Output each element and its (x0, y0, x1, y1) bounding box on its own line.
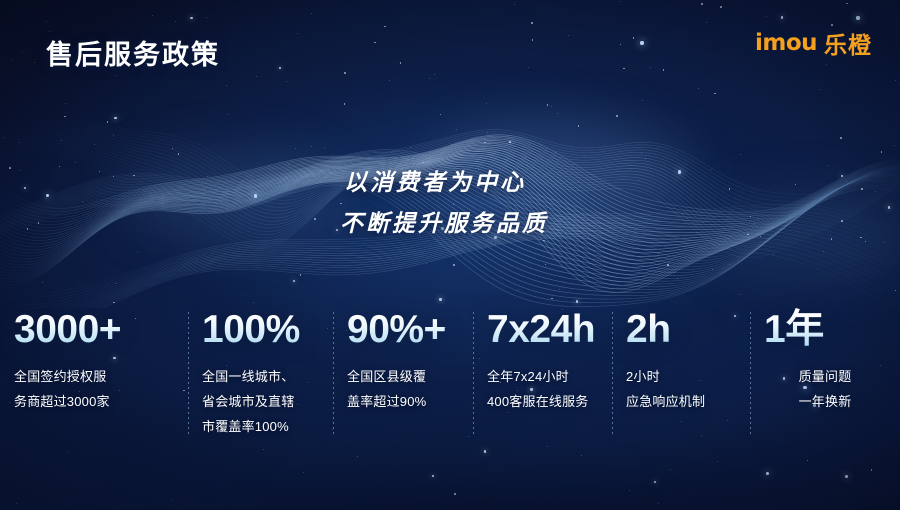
star-dot (9, 167, 11, 169)
star-dot (795, 184, 797, 186)
star-dot (514, 4, 515, 5)
stat-value-wrap: 2h (626, 306, 750, 354)
star-dot (633, 37, 635, 39)
star-dot (894, 145, 895, 146)
star-dot (113, 176, 115, 178)
star-dot (286, 81, 287, 82)
star-dot (871, 469, 873, 471)
star-dot (856, 16, 859, 19)
stat-description: 全国区县级覆盖率超过90% (347, 364, 473, 414)
star-dot (640, 41, 643, 44)
wave-glow-right (700, 190, 900, 280)
stat-description-line: 盖率超过90% (347, 389, 473, 414)
star-dot (551, 298, 553, 300)
stat-description: 2小时应急响应机制 (626, 364, 750, 414)
star-dot (178, 153, 180, 155)
star-dot (484, 450, 486, 452)
star-dot (578, 125, 580, 127)
star-dot (16, 503, 17, 504)
star-dot (288, 164, 289, 165)
logo-chinese-name: 乐橙 (824, 26, 872, 60)
star-dot (884, 242, 885, 243)
stat-description: 全年7x24小时400客服在线服务 (487, 364, 612, 414)
star-dot (429, 78, 430, 79)
star-dot (766, 16, 767, 17)
star-dot (27, 228, 29, 230)
star-dot (133, 175, 135, 177)
brand-logo: imou 乐橙 (755, 26, 872, 60)
star-dot (172, 148, 174, 150)
star-dot (440, 114, 442, 116)
star-dot (82, 201, 83, 202)
star-dot (311, 146, 312, 147)
star-dot (781, 16, 783, 18)
star-dot (620, 1, 621, 2)
star-dot (311, 13, 312, 14)
star-dot (426, 263, 427, 264)
star-dot (116, 75, 117, 76)
stat-description-line: 2小时 (626, 364, 750, 389)
star-dot (740, 154, 741, 155)
star-dot (865, 241, 867, 243)
star-dot (303, 472, 304, 473)
stat-description-line: 全国一线城市、 (202, 364, 333, 389)
star-dot (68, 451, 69, 452)
star-dot (654, 481, 656, 483)
stat-item-3: 90%+全国区县级覆盖率超过90% (333, 306, 473, 414)
star-dot (65, 103, 66, 104)
wave-line (0, 233, 900, 308)
star-dot (204, 189, 205, 190)
star-dot (297, 33, 298, 34)
star-dot (46, 21, 47, 22)
star-dot (528, 67, 529, 68)
stat-item-4: 7x24h全年7x24小时400客服在线服务 (473, 306, 612, 414)
star-dot (729, 188, 731, 190)
star-dot (895, 80, 896, 81)
star-dot (712, 269, 713, 270)
star-dot (434, 74, 435, 75)
stat-item-1: 3000+全国签约授权服务商超过3000家 (0, 306, 188, 414)
star-dot (456, 129, 457, 130)
stat-value: 1年 (764, 306, 900, 354)
star-dot (754, 223, 755, 224)
star-dot (314, 218, 316, 220)
star-dot (324, 147, 325, 148)
star-dot (663, 69, 665, 71)
star-dot (846, 181, 847, 182)
star-dot (831, 238, 833, 240)
star-dot (826, 64, 827, 65)
stat-description-line: 省会城市及直辖 (202, 389, 333, 414)
star-dot (758, 219, 759, 220)
star-dot (429, 158, 430, 159)
star-dot (740, 294, 741, 295)
star-dot (616, 115, 618, 117)
stat-divider (188, 312, 189, 436)
star-dot (227, 114, 228, 115)
star-dot (888, 206, 890, 208)
star-dot (658, 253, 659, 254)
star-dot (623, 68, 625, 70)
star-dot (94, 144, 95, 145)
star-dot (841, 175, 843, 177)
star-dot (559, 289, 560, 290)
star-dot (861, 188, 863, 190)
stat-value-wrap: 90%+ (347, 306, 473, 354)
star-dot (75, 162, 76, 163)
stat-value: 3000+ (14, 306, 188, 354)
star-dot (46, 198, 47, 199)
stat-description-line: 400客服在线服务 (487, 389, 612, 414)
tagline-line-1: 以消费者为中心 (344, 162, 548, 203)
star-dot (766, 472, 769, 475)
star-dot (300, 274, 302, 276)
star-dot (432, 475, 434, 477)
star-dot (841, 220, 843, 222)
star-dot (629, 490, 630, 491)
star-dot (190, 17, 192, 19)
star-dot (46, 194, 49, 197)
star-dot (107, 121, 109, 123)
stat-divider (750, 312, 751, 436)
star-dot (658, 503, 659, 504)
star-dot (747, 234, 749, 236)
star-dot (714, 93, 716, 95)
star-dot (581, 455, 582, 456)
star-dot (263, 449, 264, 450)
star-dot (645, 158, 646, 159)
star-dot (344, 72, 346, 74)
star-dot (881, 151, 883, 153)
star-dot (484, 142, 486, 144)
star-dot (750, 216, 752, 218)
stat-value: 90%+ (347, 306, 473, 354)
star-dot (551, 106, 552, 107)
star-dot (670, 469, 671, 470)
stat-description-line: 一年换新 (764, 389, 886, 414)
star-dot (115, 283, 116, 284)
star-dot (641, 153, 642, 154)
star-dot (650, 67, 651, 68)
stat-value: 100% (202, 306, 333, 354)
star-dot (400, 62, 402, 64)
star-dot (369, 158, 370, 159)
logo-wordmark-icon: imou (755, 30, 817, 56)
star-dot (823, 251, 824, 252)
star-dot (642, 100, 643, 101)
star-dot (453, 264, 455, 266)
stat-description-line: 质量问题 (764, 364, 886, 389)
wave-line (0, 236, 900, 308)
star-dot (172, 499, 173, 500)
star-dot (175, 21, 176, 22)
star-dot (384, 26, 386, 28)
stat-description: 全国一线城市、省会城市及直辖市覆盖率100% (202, 364, 333, 439)
stat-divider (473, 312, 474, 436)
star-dot (547, 446, 548, 447)
star-dot (113, 302, 115, 304)
star-dot (807, 460, 809, 462)
star-dot (11, 59, 12, 60)
slide-root: 售后服务政策 imou 乐橙 以消费者为中心 不断提升服务品质 3000+全国签… (0, 0, 900, 510)
star-dot (279, 67, 281, 69)
star-dot (557, 113, 558, 114)
star-dot (532, 39, 534, 41)
star-dot (772, 227, 773, 228)
star-dot (374, 42, 376, 44)
stat-divider (612, 312, 613, 436)
star-dot (113, 135, 114, 136)
star-dot (34, 62, 35, 63)
stat-item-5: 2h2小时应急响应机制 (612, 306, 750, 414)
star-dot (454, 493, 456, 495)
wave-line (0, 238, 900, 308)
star-dot (59, 166, 61, 168)
stat-description-line: 全国签约授权服 (14, 364, 188, 389)
star-dot (24, 187, 26, 189)
star-dot (840, 137, 842, 139)
stat-description-line: 全国区县级覆 (347, 364, 473, 389)
stats-row: 3000+全国签约授权服务商超过3000家100%全国一线城市、省会城市及直辖市… (0, 306, 900, 441)
star-dot (547, 104, 549, 106)
stat-description-line: 全年7x24小时 (487, 364, 612, 389)
star-dot (667, 264, 669, 266)
stat-description-line: 务商超过3000家 (14, 389, 188, 414)
star-dot (293, 280, 295, 282)
star-dot (550, 203, 551, 204)
star-dot (254, 194, 257, 197)
star-dot (61, 140, 62, 141)
star-dot (518, 289, 519, 290)
star-dot (531, 22, 533, 24)
star-dot (860, 237, 862, 239)
star-dot (99, 171, 101, 173)
stat-value-wrap: 3000+ (14, 306, 188, 354)
star-dot (389, 80, 390, 81)
stat-divider (333, 312, 334, 436)
star-dot (678, 170, 681, 173)
star-dot (555, 152, 556, 153)
star-dot (525, 157, 526, 158)
star-dot (509, 141, 511, 143)
stat-value-wrap: 100% (202, 306, 333, 354)
star-dot (701, 3, 703, 5)
star-dot (729, 264, 730, 265)
star-dot (42, 282, 43, 283)
star-dot (410, 147, 411, 148)
star-dot (720, 6, 722, 8)
star-dot (344, 103, 346, 105)
star-dot (451, 144, 452, 145)
star-dot (697, 232, 698, 233)
wave-glow-left (120, 150, 340, 240)
star-dot (875, 191, 876, 192)
stat-item-2: 100%全国一线城市、省会城市及直辖市覆盖率100% (188, 306, 333, 439)
wave-line (0, 235, 900, 308)
star-dot (845, 475, 848, 478)
star-dot (827, 165, 828, 166)
star-dot (820, 89, 821, 90)
star-dot (295, 148, 296, 149)
stat-description-line: 市覆盖率100% (202, 414, 333, 439)
star-dot (137, 252, 138, 253)
star-dot (568, 35, 569, 36)
stat-description: 质量问题一年换新 (764, 364, 900, 414)
star-dot (19, 142, 20, 143)
star-dot (20, 170, 21, 171)
star-dot (162, 203, 163, 204)
star-dot (710, 169, 711, 170)
star-dot (760, 236, 762, 238)
stat-value: 7x24h (487, 306, 612, 354)
star-dot (706, 22, 707, 23)
stat-description: 全国签约授权服务商超过3000家 (14, 364, 188, 414)
star-dot (487, 132, 488, 133)
star-dot (38, 222, 40, 224)
star-dot (256, 76, 257, 77)
star-dot (682, 213, 683, 214)
star-dot (895, 290, 897, 292)
stat-value-wrap: 7x24h (487, 306, 612, 354)
page-title: 售后服务政策 (46, 33, 220, 72)
star-dot (620, 44, 622, 46)
star-dot (22, 51, 23, 52)
stat-value: 2h (626, 306, 750, 354)
star-dot (3, 137, 4, 138)
star-dot (152, 15, 153, 16)
star-dot (846, 3, 848, 5)
tagline-line-2: 不断提升服务品质 (340, 203, 548, 244)
star-dot (336, 229, 338, 231)
star-dot (674, 272, 675, 273)
star-dot (114, 117, 116, 119)
tagline: 以消费者为中心 不断提升服务品质 (344, 162, 548, 244)
stat-value-wrap: 1年 (764, 306, 900, 354)
star-dot (773, 254, 774, 255)
star-dot (206, 17, 207, 18)
star-dot (698, 88, 699, 89)
star-dot (486, 103, 487, 104)
stat-description-line: 应急响应机制 (626, 389, 750, 414)
star-dot (64, 116, 66, 118)
star-dot (226, 85, 227, 86)
star-dot (576, 300, 578, 302)
star-dot (253, 302, 254, 303)
star-dot (545, 264, 547, 266)
star-dot (638, 180, 639, 181)
star-dot (717, 461, 718, 462)
star-dot (439, 298, 441, 300)
star-dot (207, 176, 208, 177)
stat-item-6: 1年质量问题一年换新 (750, 306, 900, 414)
star-dot (677, 278, 678, 279)
star-dot (357, 456, 358, 457)
